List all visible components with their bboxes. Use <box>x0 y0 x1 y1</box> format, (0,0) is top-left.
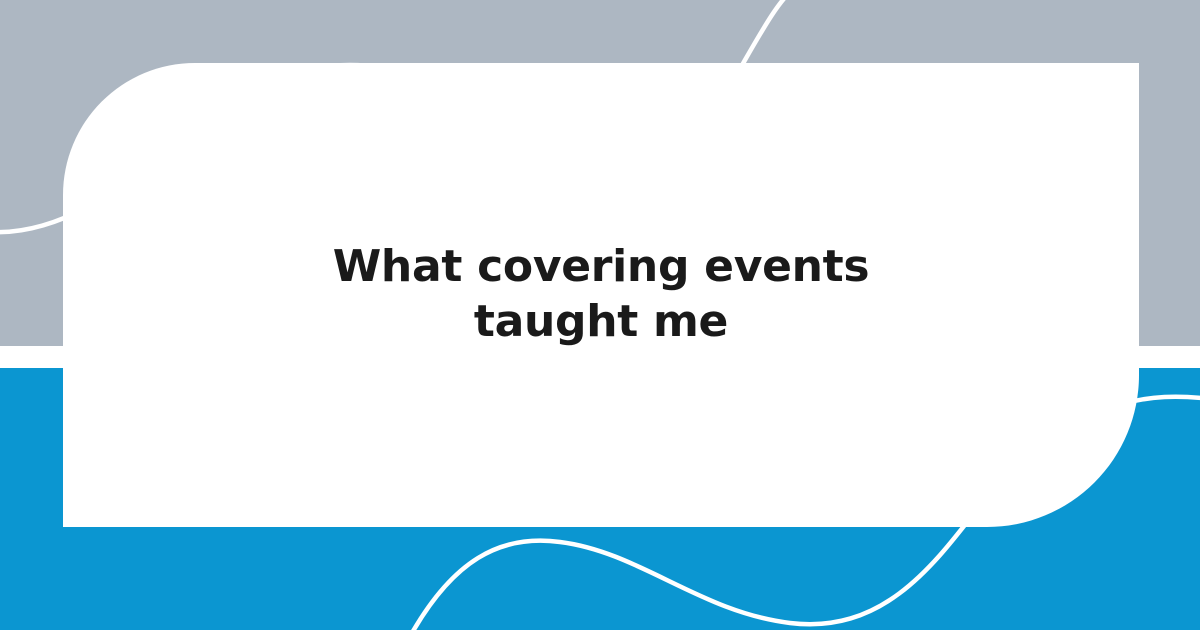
title-container: What covering events taught me <box>281 240 921 349</box>
social-share-card: What covering events taught me <box>0 0 1200 630</box>
title-card: What covering events taught me <box>63 63 1139 527</box>
page-title: What covering events taught me <box>305 240 897 349</box>
